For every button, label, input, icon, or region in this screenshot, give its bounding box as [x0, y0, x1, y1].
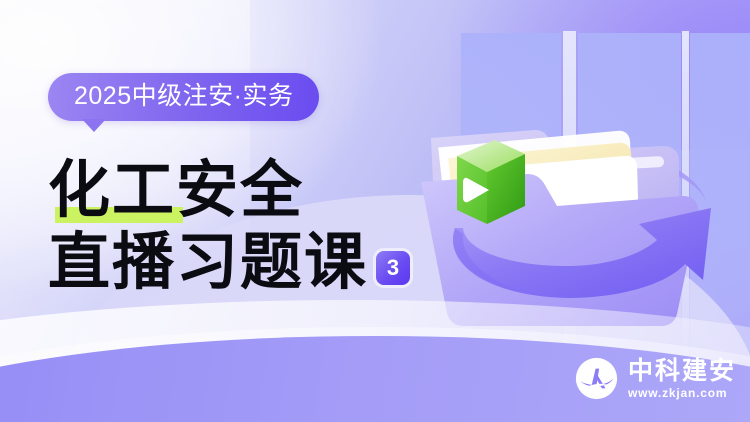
- category-pill-tail: [82, 119, 106, 132]
- headline-line-2-text: 直播习题课: [48, 227, 368, 299]
- brand-logo[interactable]: 中科建安 www.zkjan.com: [575, 357, 736, 400]
- episode-badge: 3: [376, 251, 410, 285]
- category-pill-wrapper: 2025中级注安·实务: [48, 73, 319, 121]
- headline-block: 化工安全 直播习题课 3: [48, 155, 468, 299]
- brand-url: www.zkjan.com: [628, 387, 736, 400]
- brand-name: 中科建安: [628, 358, 736, 385]
- headline-line-1: 化工安全: [48, 155, 468, 227]
- zkjan-circle-icon: [575, 357, 618, 400]
- headline-line-2: 直播习题课 3: [48, 227, 468, 299]
- headline-line-1-text: 化工安全: [48, 157, 304, 225]
- category-pill[interactable]: 2025中级注安·实务: [48, 73, 319, 121]
- category-pill-label: 2025中级注安·实务: [74, 82, 293, 110]
- course-banner: 2025中级注安·实务 化工安全 直播习题课 3 中科建安 www.zkj: [0, 0, 750, 422]
- brand-logo-text: 中科建安 www.zkjan.com: [628, 358, 736, 400]
